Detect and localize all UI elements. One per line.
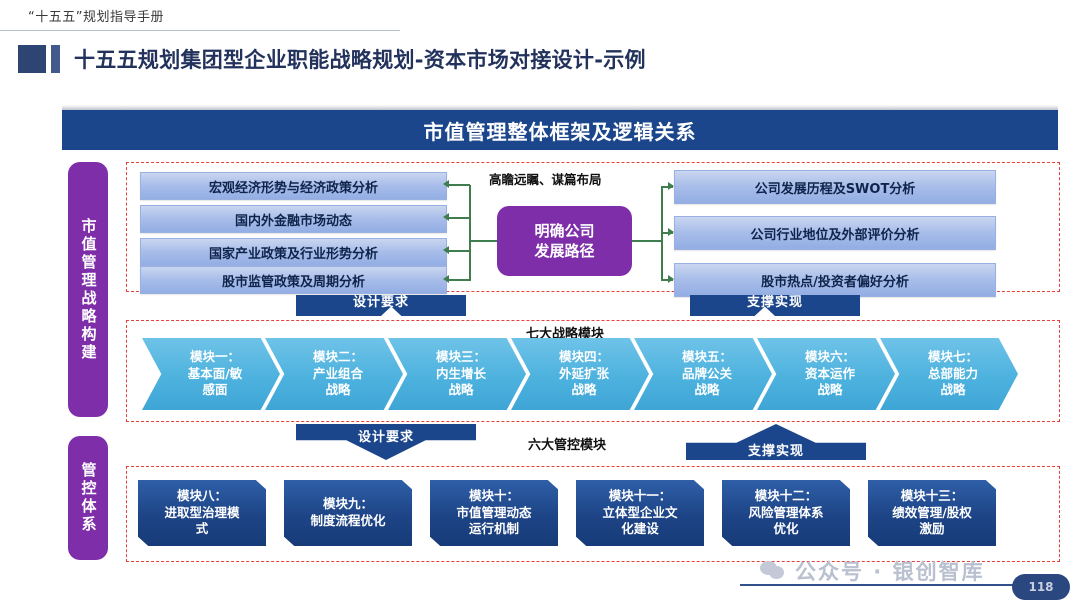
arrow-left-1-icon — [443, 180, 449, 188]
band-arrow-support-realization-1: 支撑实现 — [690, 295, 860, 316]
arrow-left-4-icon — [443, 275, 449, 283]
module-line2: 战略 — [559, 382, 609, 399]
title-marker-bar-icon — [51, 45, 60, 73]
title-marker-square-icon — [18, 45, 46, 73]
document-label: “十五五”规划指导手册 — [28, 6, 164, 25]
box-label: 公司行业地位及外部评价分析 — [750, 224, 919, 243]
box-label: 股市监管政策及周期分析 — [222, 271, 365, 290]
module-line1: 内生增长 — [436, 366, 486, 383]
box-label: 公司发展历程及SWOT分析 — [755, 178, 916, 197]
side-tab-strategy-construction[interactable]: 市值管理战略构建 — [68, 162, 108, 417]
connector-left-trunk — [469, 185, 471, 281]
module-line1: 外延扩张 — [559, 366, 609, 383]
header-divider — [0, 30, 400, 31]
band-arrow-label: 设计要求 — [358, 426, 414, 445]
center-node-caption: 高瞻远瞩、谋篇布局 — [489, 172, 607, 189]
banner-title: 市值管理整体框架及逻辑关系 — [424, 116, 697, 145]
footer-divider — [740, 584, 1040, 586]
connector-left-to-center — [469, 240, 499, 242]
module-title: 模块九： — [323, 496, 373, 513]
analysis-box-swot[interactable]: 公司发展历程及SWOT分析 — [674, 170, 996, 204]
wechat-icon — [760, 561, 786, 581]
module-title: 模块三： — [436, 349, 486, 366]
module-line2: 化建设 — [621, 521, 659, 538]
module-line1: 绩效管理/股权 — [892, 505, 972, 522]
arrow-left-3-icon — [443, 246, 449, 254]
module-line2: 感面 — [188, 382, 243, 399]
analysis-box-macro-economy[interactable]: 宏观经济形势与经济政策分析 — [140, 172, 447, 200]
side-tab-control-system[interactable]: 管控体系 — [68, 436, 108, 560]
module-line2: 优化 — [773, 521, 798, 538]
box-label: 国内外金融市场动态 — [235, 210, 352, 229]
module-line1: 市值管理动态 — [456, 505, 531, 522]
page-number-badge: 118 — [1012, 574, 1070, 600]
module-title: 模块十一： — [609, 488, 672, 505]
band-arrow-label: 支撑实现 — [748, 440, 804, 459]
connector-left-branch-2 — [447, 217, 470, 219]
module-title: 模块一： — [188, 349, 243, 366]
module-line2: 战略 — [436, 382, 486, 399]
module-title: 模块八： — [177, 488, 227, 505]
group-caption-control: 六大管控模块 — [528, 434, 606, 453]
band-arrow-design-requirement-1: 设计要求 — [296, 295, 466, 316]
band-arrow-design-requirement-2: 设计要求 — [296, 424, 476, 460]
strategy-module-4[interactable]: 模块四： 外延扩张 战略 — [511, 338, 649, 410]
center-node-company-path[interactable]: 明确公司 发展路径 — [497, 206, 632, 276]
module-line2: 战略 — [805, 382, 855, 399]
strategy-module-5[interactable]: 模块五： 品牌公关 战略 — [634, 338, 772, 410]
center-caption-text: 高瞻远瞩、谋篇布局 — [489, 172, 602, 187]
analysis-box-stock-regulation[interactable]: 股市监管政策及周期分析 — [140, 266, 447, 294]
strategy-module-6[interactable]: 模块六： 资本运作 战略 — [757, 338, 895, 410]
module-line1: 进取型治理模 — [164, 505, 239, 522]
module-line1: 品牌公关 — [682, 366, 732, 383]
module-line2: 战略 — [928, 382, 978, 399]
band-arrow-support-realization-2: 支撑实现 — [686, 424, 866, 460]
module-line2: 式 — [196, 521, 209, 538]
side-tab-label: 管控体系 — [81, 462, 96, 534]
watermark-text: 公众号 · 银创智库 — [795, 556, 985, 586]
control-module-9[interactable]: 模块九： 制度流程优化 — [284, 480, 412, 546]
section-banner: 市值管理整体框架及逻辑关系 — [62, 110, 1058, 150]
module-line1: 风险管理体系 — [748, 505, 823, 522]
control-module-13[interactable]: 模块十三： 绩效管理/股权 激励 — [868, 480, 996, 546]
module-line2: 战略 — [313, 382, 363, 399]
module-title: 模块四： — [559, 349, 609, 366]
module-title: 模块六： — [805, 349, 855, 366]
module-line2: 激励 — [919, 521, 944, 538]
module-line1: 立体型企业文 — [602, 505, 677, 522]
page-title: 十五五规划集团型企业职能战略规划-资本市场对接设计-示例 — [74, 44, 646, 74]
watermark: 公众号 · 银创智库 — [760, 556, 985, 586]
connector-left-branch-1 — [447, 184, 470, 186]
strategy-module-1[interactable]: 模块一： 基本面/敏 感面 — [142, 338, 280, 410]
module-line2: 战略 — [682, 382, 732, 399]
connector-left-branch-4 — [447, 279, 470, 281]
control-module-11[interactable]: 模块十一： 立体型企业文 化建设 — [576, 480, 704, 546]
module-title: 模块二： — [313, 349, 363, 366]
strategy-module-3[interactable]: 模块三： 内生增长 战略 — [388, 338, 526, 410]
box-label: 股市热点/投资者偏好分析 — [761, 271, 909, 290]
module-line1: 基本面/敏 — [188, 366, 243, 383]
analysis-box-investor-preference[interactable]: 股市热点/投资者偏好分析 — [674, 263, 996, 297]
strategy-module-2[interactable]: 模块二： 产业组合 战略 — [265, 338, 403, 410]
connector-left-branch-3 — [447, 250, 470, 252]
control-module-10[interactable]: 模块十： 市值管理动态 运行机制 — [430, 480, 558, 546]
module-title: 模块七： — [928, 349, 978, 366]
box-label: 国家产业政策及行业形势分析 — [209, 243, 378, 262]
analysis-box-industry-policy[interactable]: 国家产业政策及行业形势分析 — [140, 238, 447, 266]
connector-center-to-right — [632, 240, 662, 242]
module-line1: 制度流程优化 — [310, 513, 385, 530]
center-node-line2: 发展路径 — [534, 241, 594, 261]
control-module-12[interactable]: 模块十二： 风险管理体系 优化 — [722, 480, 850, 546]
module-line1: 资本运作 — [805, 366, 855, 383]
module-title: 模块五： — [682, 349, 732, 366]
control-module-8[interactable]: 模块八： 进取型治理模 式 — [138, 480, 266, 546]
module-line2: 运行机制 — [469, 521, 519, 538]
analysis-box-industry-position[interactable]: 公司行业地位及外部评价分析 — [674, 216, 996, 250]
strategy-module-7[interactable]: 模块七： 总部能力 战略 — [880, 338, 1018, 410]
module-title: 模块十三： — [901, 488, 964, 505]
analysis-box-financial-market[interactable]: 国内外金融市场动态 — [140, 205, 447, 233]
module-title: 模块十： — [469, 488, 519, 505]
module-line1: 总部能力 — [928, 366, 978, 383]
side-tab-label: 市值管理战略构建 — [81, 218, 96, 362]
center-node-line1: 明确公司 — [534, 221, 594, 241]
module-line1: 产业组合 — [313, 366, 363, 383]
page-title-row: 十五五规划集团型企业职能战略规划-资本市场对接设计-示例 — [18, 44, 646, 74]
module-title: 模块十二： — [755, 488, 818, 505]
box-label: 宏观经济形势与经济政策分析 — [209, 177, 378, 196]
arrow-left-2-icon — [443, 213, 449, 221]
